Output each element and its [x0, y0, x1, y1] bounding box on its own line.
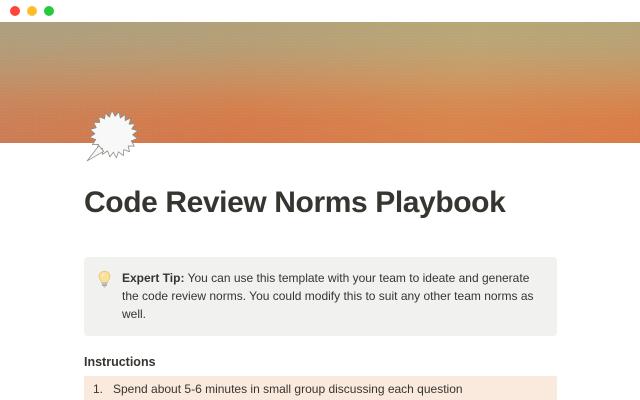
list-item-marker: 1. [93, 381, 106, 398]
page-content: Code Review Norms Playbook Expert Tip: Y… [0, 185, 640, 400]
light-bulb-icon [96, 270, 113, 288]
expert-tip-callout[interactable]: Expert Tip: You can use this template wi… [84, 257, 557, 336]
right-anger-bubble-icon[interactable] [84, 108, 140, 164]
list-item[interactable]: 1. Spend about 5-6 minutes in small grou… [84, 376, 557, 400]
expert-tip-lead: Expert Tip: [122, 271, 184, 285]
minimize-window-button[interactable] [27, 6, 37, 16]
instructions-heading[interactable]: Instructions [84, 354, 556, 370]
list-item-text: Spend about 5-6 minutes in small group d… [113, 381, 549, 398]
window-titlebar [0, 0, 640, 22]
maximize-window-button[interactable] [44, 6, 54, 16]
expert-tip-body: You can use this template with your team… [122, 271, 534, 321]
close-window-button[interactable] [10, 6, 20, 16]
app-window: Code Review Norms Playbook Expert Tip: Y… [0, 0, 640, 400]
instructions-list: 1. Spend about 5-6 minutes in small grou… [84, 376, 557, 400]
expert-tip-text: Expert Tip: You can use this template wi… [122, 269, 543, 323]
page-title[interactable]: Code Review Norms Playbook [84, 185, 556, 221]
